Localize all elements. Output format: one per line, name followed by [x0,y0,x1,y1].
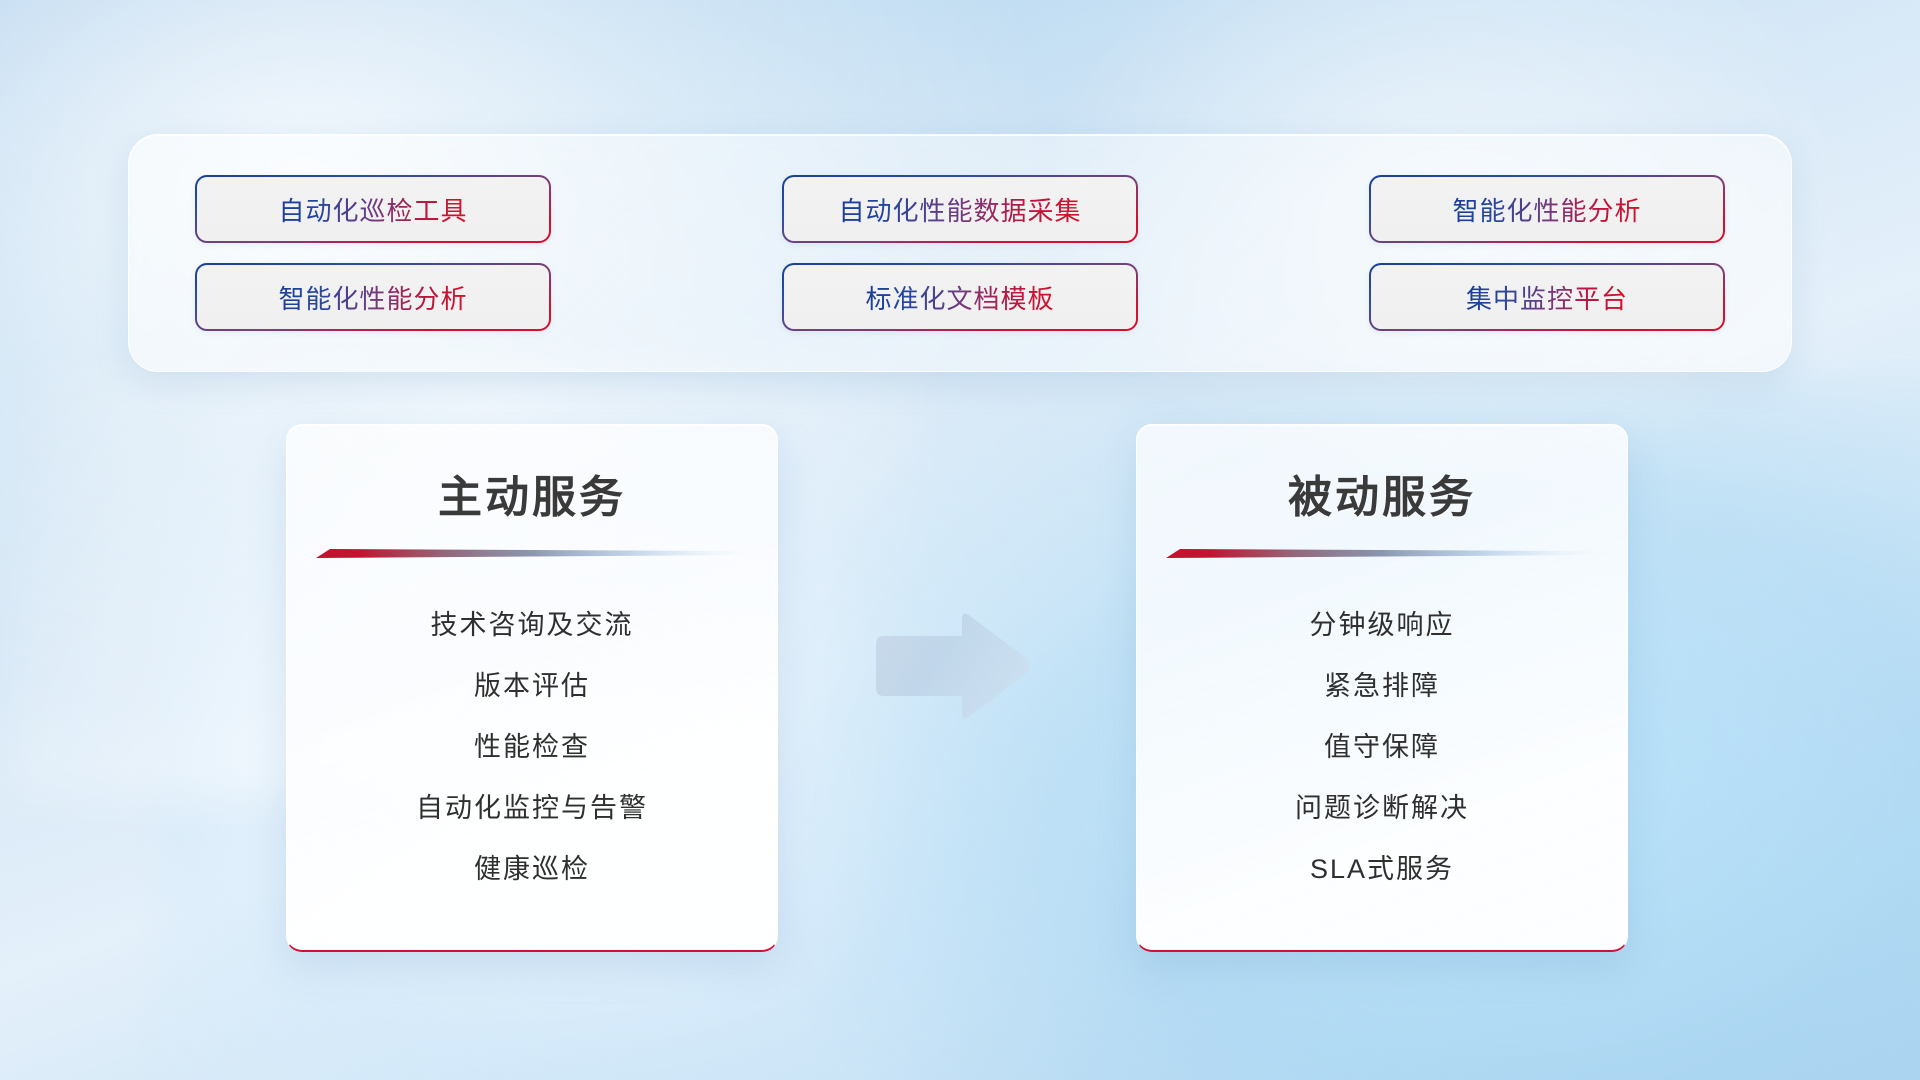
card-divider-icon [1166,547,1598,561]
capability-pill-automated-performance-data-collection[interactable]: 自动化性能数据采集 [782,175,1138,243]
diagram-stage: 自动化巡检工具 自动化性能数据采集 智能化性能分析 智能化性能分析 标准化文档模… [0,0,1920,1080]
list-item: 性能检查 [474,717,590,778]
list-item: 技术咨询及交流 [431,595,634,656]
list-item: 版本评估 [474,656,590,717]
list-item: 自动化监控与告警 [416,778,648,839]
card-title: 主动服务 [438,461,626,525]
capability-row-1: 自动化巡检工具 自动化性能数据采集 智能化性能分析 [195,175,1725,243]
capability-pill-automated-inspection-tool[interactable]: 自动化巡检工具 [195,175,551,243]
capability-pill-label: 标准化文档模板 [865,279,1054,316]
capability-pill-standardized-doc-template[interactable]: 标准化文档模板 [782,263,1138,331]
list-item: 值守保障 [1324,717,1440,778]
right-arrow-icon [870,610,1034,722]
service-card-proactive: 主动服务 技术咨询及交流 版本评估 性能检查 [286,424,778,952]
list-item: SLA式服务 [1310,839,1454,900]
capability-pill-label: 集中监控平台 [1466,279,1628,316]
card-item-list: 技术咨询及交流 版本评估 性能检查 自动化监控与告警 健康巡检 [287,595,777,900]
card-divider-icon [316,547,748,561]
capability-row-2: 智能化性能分析 标准化文档模板 集中监控平台 [195,263,1725,331]
card-title: 被动服务 [1288,461,1476,525]
capability-pill-label: 自动化性能数据采集 [838,191,1081,228]
service-card-reactive: 被动服务 分钟级响应 紧急排障 值守保障 [1136,424,1628,952]
list-item: 健康巡检 [474,839,590,900]
card-item-list: 分钟级响应 紧急排障 值守保障 问题诊断解决 SLA式服务 [1137,595,1627,900]
list-item: 问题诊断解决 [1295,778,1469,839]
list-item: 分钟级响应 [1310,595,1455,656]
capability-pill-centralized-monitoring-platform[interactable]: 集中监控平台 [1369,263,1725,331]
capability-pill-intelligent-performance-analysis-2[interactable]: 智能化性能分析 [195,263,551,331]
capability-pill-label: 自动化巡检工具 [278,191,467,228]
capability-pill-label: 智能化性能分析 [278,279,467,316]
capability-pill-intelligent-performance-analysis-1[interactable]: 智能化性能分析 [1369,175,1725,243]
capability-tags-panel: 自动化巡检工具 自动化性能数据采集 智能化性能分析 智能化性能分析 标准化文档模… [128,134,1792,372]
list-item: 紧急排障 [1324,656,1440,717]
capability-pill-label: 智能化性能分析 [1452,191,1641,228]
